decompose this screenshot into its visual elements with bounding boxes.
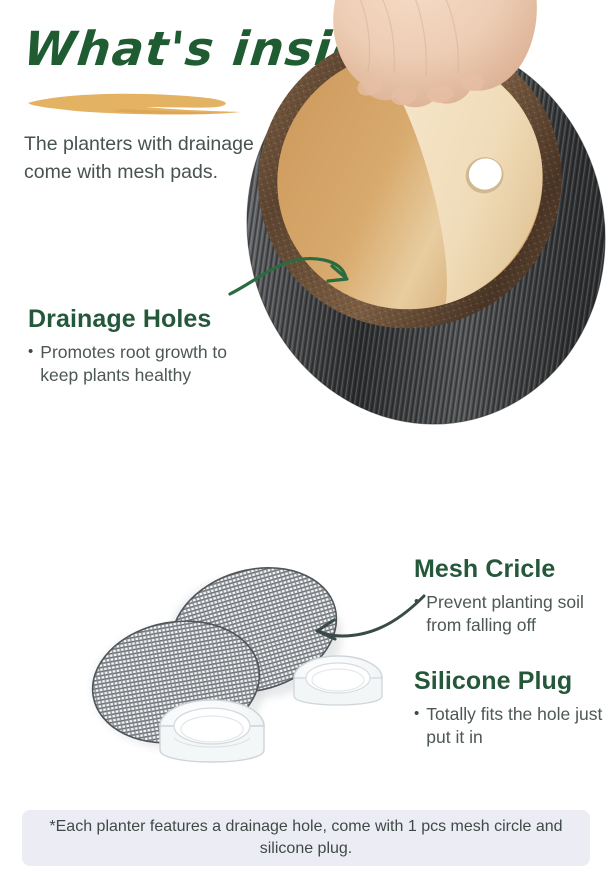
feature-block-plug: Silicone Plug • Totally fits the hole ju… [414,668,612,750]
footer-note-text: *Each planter features a drainage hole, … [22,816,590,860]
infographic-canvas: What's inside? The planters with drainag… [0,0,612,879]
feature-bullet-drainage: • Promotes root growth to keep plants he… [28,341,268,389]
feature-heading-drainage: Drainage Holes [28,306,268,334]
footer-note-box: *Each planter features a drainage hole, … [22,810,590,866]
feature-bullet-text: Prevent planting soil from falling off [426,591,612,639]
bullet-marker: • [28,341,33,389]
feature-block-drainage: Drainage Holes • Promotes root growth to… [28,306,268,388]
bullet-marker: • [414,591,419,639]
bullet-marker: • [414,703,419,751]
page-title: What's inside? [22,26,367,73]
silicone-plug-upper [294,656,382,705]
feature-heading-mesh: Mesh Cricle [414,556,612,584]
intro-paragraph: The planters with drainage come with mes… [24,131,289,186]
feature-heading-plug: Silicone Plug [414,668,612,696]
silicone-plug-lower [160,700,264,762]
feature-bullet-plug: • Totally fits the hole just put it in [414,703,612,751]
feature-bullet-text: Totally fits the hole just put it in [426,703,612,751]
title-block: What's inside? [24,26,364,116]
feature-bullet-text: Promotes root growth to keep plants heal… [40,341,268,389]
feature-bullet-mesh: • Prevent planting soil from falling off [414,591,612,639]
arrow-to-mesh-circles [308,586,428,660]
mesh-and-plug-photo [86,510,386,790]
title-underline-swash [26,90,246,116]
feature-block-mesh: Mesh Cricle • Prevent planting soil from… [414,556,612,638]
